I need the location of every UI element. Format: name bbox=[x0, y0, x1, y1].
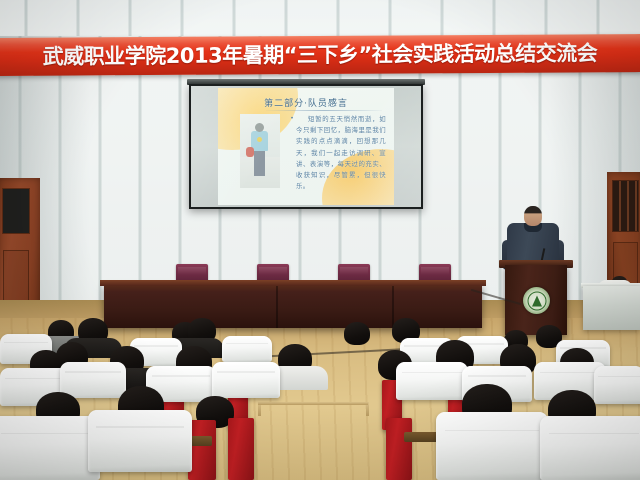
stage-table bbox=[104, 284, 482, 328]
slide-title-rule bbox=[266, 110, 382, 111]
table-seam-1 bbox=[276, 286, 278, 328]
podium bbox=[505, 265, 567, 335]
slide-body-text: 短暂的五天悄然而逝，如今只剩下回忆，脑海里是我们实践的点点滴滴，回想那几天，我们… bbox=[296, 114, 386, 192]
aisle-rail-bar bbox=[258, 402, 368, 405]
presentation-slide: 第二部分·队员感言 • 短暂的五天悄然而逝，如今只剩下回忆，脑海里是我们实践的点… bbox=[218, 88, 394, 205]
wall-upper-panel bbox=[0, 0, 640, 36]
photo-child-bag bbox=[246, 147, 254, 157]
college-crest-icon bbox=[523, 287, 550, 314]
photo-child-head bbox=[255, 123, 264, 132]
seat-cover[interactable] bbox=[0, 416, 100, 480]
slide-bullet-icon: • bbox=[288, 116, 296, 122]
slide-title: 第二部分·队员感言 bbox=[218, 96, 394, 109]
photo-child-legs bbox=[254, 150, 265, 176]
seat-cover[interactable] bbox=[540, 416, 640, 480]
seat-cover[interactable] bbox=[436, 412, 548, 480]
seat-frame[interactable] bbox=[188, 420, 216, 480]
seat-frame[interactable] bbox=[228, 418, 254, 480]
head bbox=[344, 322, 370, 345]
seat-cover[interactable] bbox=[88, 410, 192, 472]
photo-child-shirt-logo bbox=[257, 137, 262, 142]
door-left-window bbox=[2, 188, 30, 234]
seat-frame[interactable] bbox=[386, 418, 412, 480]
door-right-window bbox=[612, 180, 639, 232]
speaker-head bbox=[524, 206, 542, 226]
screen-surface: 第二部分·队员感言 • 短暂的五天悄然而逝，如今只剩下回忆，脑海里是我们实践的点… bbox=[191, 86, 421, 207]
banner-text: 武威职业学院2013年暑期“三下乡”社会实践活动总结交流会 bbox=[43, 43, 598, 67]
seat-cover[interactable] bbox=[212, 362, 280, 398]
seat-cover[interactable] bbox=[60, 362, 126, 398]
table-seam-2 bbox=[392, 286, 394, 328]
side-table bbox=[583, 286, 640, 330]
projection-screen: 第二部分·队员感言 • 短暂的五天悄然而逝，如今只剩下回忆，脑海里是我们实践的点… bbox=[189, 84, 423, 209]
seat-cover[interactable] bbox=[222, 336, 272, 362]
event-banner: 武威职业学院2013年暑期“三下乡”社会实践活动总结交流会 bbox=[0, 34, 640, 76]
seat-cover[interactable] bbox=[396, 362, 468, 400]
slide-photo bbox=[240, 114, 280, 188]
seat-cover[interactable] bbox=[594, 366, 640, 404]
lecture-hall-photo: 武威职业学院2013年暑期“三下乡”社会实践活动总结交流会 第二部分·队员感言 bbox=[0, 0, 640, 480]
